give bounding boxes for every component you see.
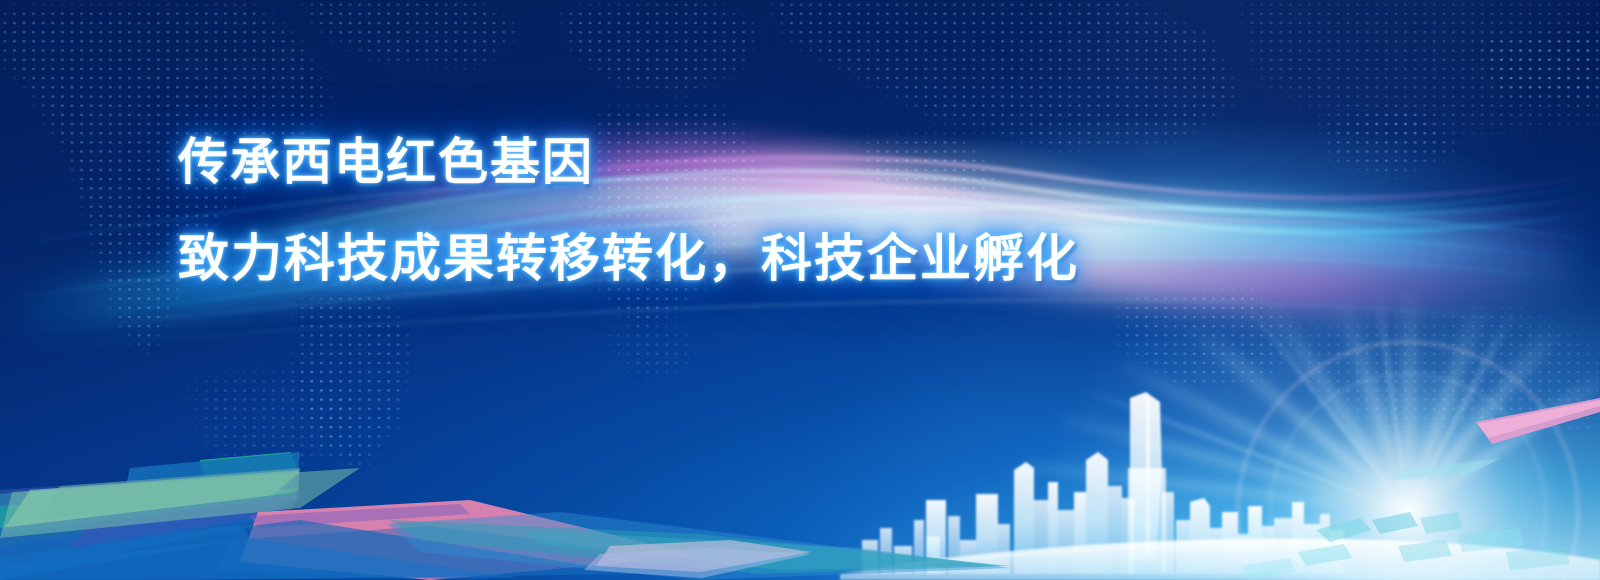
- pink-sliver-icon: [1476, 398, 1600, 444]
- polygon-sage: [0, 472, 300, 534]
- geometric-polygons-icon: [0, 0, 1600, 580]
- dotted-world-map-secondary-icon: [0, 0, 1600, 580]
- banner-hero: 传承西电红色基因 致力科技成果转移转化，科技企业孵化: [0, 0, 1600, 580]
- polygon-teal-right: [390, 520, 1010, 574]
- city-skyline-icon: [0, 0, 1600, 580]
- sun-burst-core-glow: [0, 0, 1600, 580]
- background-gradient: [0, 0, 1600, 580]
- polygon-blue: [0, 492, 300, 562]
- headline-block: 传承西电红色基因 致力科技成果转移转化，科技企业孵化: [178, 137, 1178, 284]
- headline-line-1: 传承西电红色基因: [178, 137, 1178, 187]
- sun-burst-rays-icon: [0, 0, 1600, 580]
- polygon-teal: [0, 474, 300, 540]
- polygon-pink: [240, 500, 700, 580]
- ribbon-glow-haze: [0, 0, 1600, 580]
- background-dark-overlay: [0, 0, 1600, 580]
- background-diagonal-band: [0, 0, 1600, 580]
- headline-line-2: 致力科技成果转移转化，科技企业孵化: [178, 233, 1178, 284]
- light-ribbon-streaks-icon: [0, 0, 1600, 580]
- polygon-green-sliver: [200, 452, 298, 498]
- dotted-world-map-icon: [0, 0, 1600, 580]
